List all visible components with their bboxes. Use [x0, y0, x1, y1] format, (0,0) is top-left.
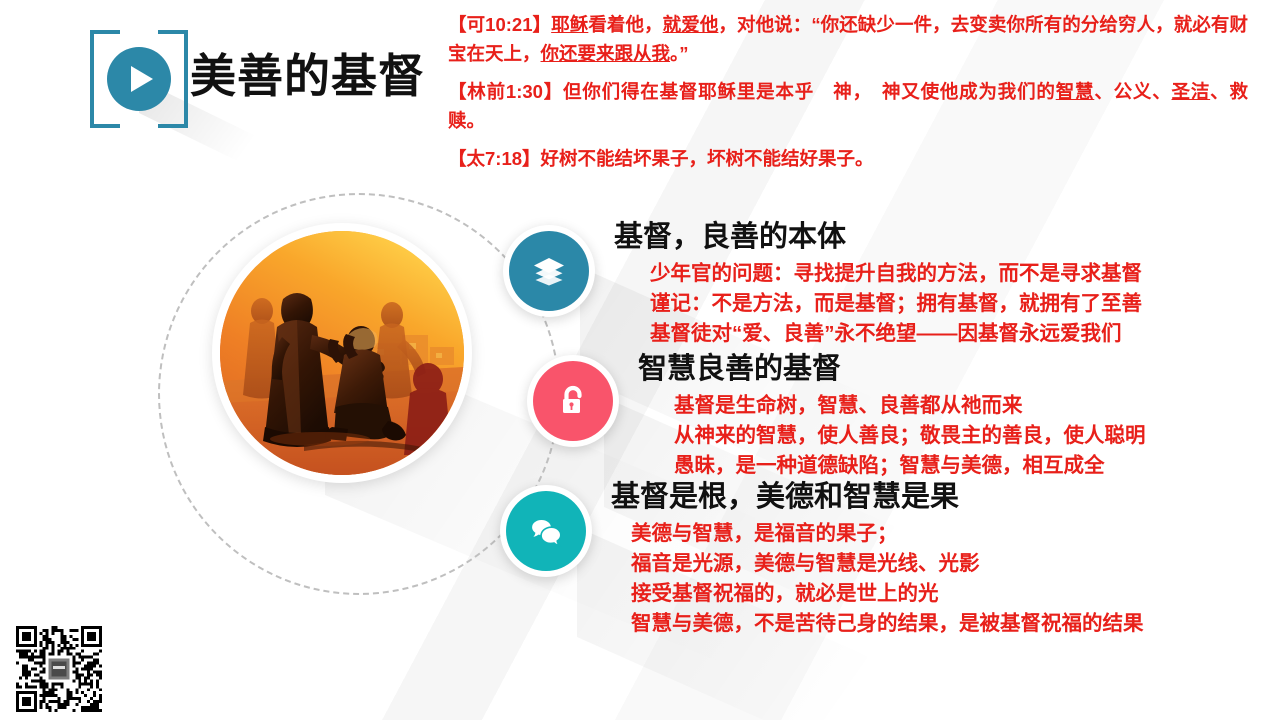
verse-item: 【林前1:30】但你们得在基督耶稣里是本乎 神， 神又使他成为我们的智慧、公义、… [448, 77, 1248, 135]
artwork-illustration [220, 231, 464, 475]
section-text-3: 基督是根，美德和智慧是果 美德与智慧，是福音的果子； 福音是光源，美德与智慧是光… [611, 479, 1144, 639]
section-line: 少年官的问题：寻找提升自我的方法，而不是寻求基督 [614, 259, 1142, 289]
section-text-1: 基督，良善的本体 少年官的问题：寻找提升自我的方法，而不是寻求基督 谨记：不是方… [614, 219, 1142, 349]
qr-code[interactable] [16, 626, 102, 712]
speech-bubbles-icon [506, 491, 586, 571]
section-line: 基督是生命树，智慧、良善都从祂而来 [638, 391, 1146, 421]
section-bullet-1[interactable] [503, 225, 595, 317]
slide-header: 美善的基督 【可10:21】耶稣看着他，就爱他，对他说：“你还缺少一件，去变卖你… [0, 0, 1280, 180]
page-title: 美善的基督 [190, 40, 425, 106]
section-line: 基督徒对“爱、良善”永不绝望——因基督永远爱我们 [614, 319, 1142, 349]
section-bullet-3[interactable] [500, 485, 592, 577]
brand-logo [90, 30, 188, 128]
layers-icon [509, 231, 589, 311]
verse-list: 【可10:21】耶稣看着他，就爱他，对他说：“你还缺少一件，去变卖你所有的分给穷… [448, 10, 1248, 182]
verse-item: 【可10:21】耶稣看着他，就爱他，对他说：“你还缺少一件，去变卖你所有的分给穷… [448, 10, 1248, 68]
section-line: 智慧与美德，不是苦待己身的结果，是被基督祝福的结果 [611, 609, 1144, 639]
section-line: 谨记：不是方法，而是基督；拥有基督，就拥有了至善 [614, 289, 1142, 319]
section-text-2: 智慧良善的基督 基督是生命树，智慧、良善都从祂而来 从神来的智慧，使人善良；敬畏… [638, 351, 1146, 481]
section-heading: 基督，良善的本体 [614, 219, 1142, 255]
section-line: 福音是光源，美德与智慧是光线、光影 [611, 549, 1144, 579]
unlock-icon [533, 361, 613, 441]
section-line: 接受基督祝福的，就必是世上的光 [611, 579, 1144, 609]
slide-canvas: 美善的基督 【可10:21】耶稣看着他，就爱他，对他说：“你还缺少一件，去变卖你… [0, 0, 1280, 720]
play-button-icon [107, 47, 171, 111]
section-line: 美德与智慧，是福音的果子； [611, 519, 1144, 549]
section-heading: 智慧良善的基督 [638, 351, 1146, 387]
verse-item: 【太7:18】好树不能结坏果子，坏树不能结好果子。 [448, 144, 1248, 173]
section-line: 从神来的智慧，使人善良；敬畏主的善良，使人聪明 [638, 421, 1146, 451]
section-heading: 基督是根，美德和智慧是果 [611, 479, 1144, 515]
section-bullet-2[interactable] [527, 355, 619, 447]
play-triangle-icon [131, 66, 153, 92]
section-line: 愚昧，是一种道德缺陷；智慧与美德，相互成全 [638, 451, 1146, 481]
